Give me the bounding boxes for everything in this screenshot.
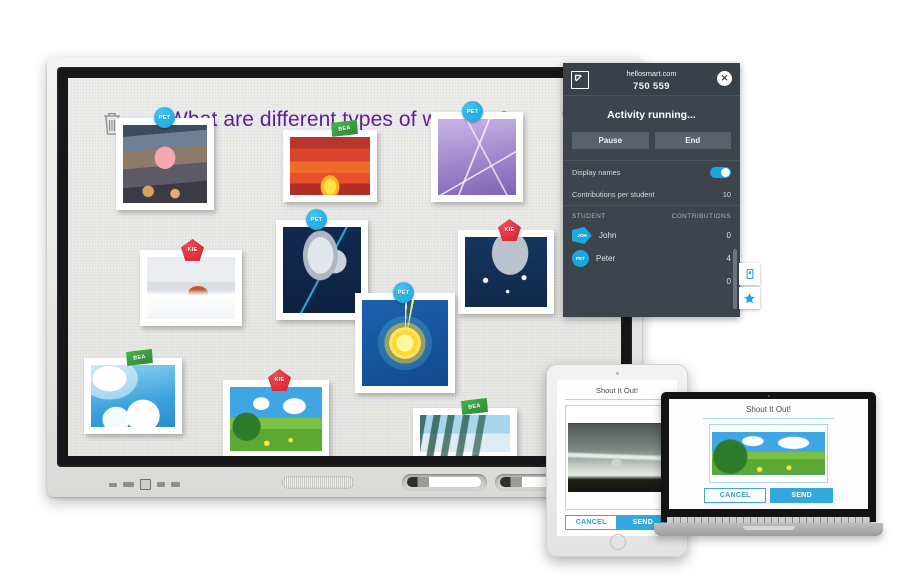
student-table-header: STUDENT CONTRIBUTIONS [563, 206, 740, 224]
column-contributions: CONTRIBUTIONS [672, 213, 731, 220]
laptop-camera [768, 395, 770, 397]
laptop-screen: Shout It Out! CANCEL SEND [669, 399, 868, 509]
avatar: JOH [572, 227, 592, 244]
photo-blue-sky-clouds [91, 365, 175, 427]
student-name: John [599, 231, 727, 240]
photo-card[interactable]: KIE [223, 380, 329, 456]
port-usb [109, 483, 117, 487]
device-icon[interactable] [739, 263, 760, 285]
display-names-toggle[interactable] [710, 167, 731, 178]
divider [565, 399, 668, 400]
photo-tag: PET [393, 282, 414, 303]
divider [703, 418, 834, 419]
photo-snowy-cabin [147, 257, 235, 319]
photo-umbrella-rain [123, 125, 207, 203]
stylus-pen[interactable] [407, 477, 481, 487]
student-name: Peter [596, 254, 727, 263]
cancel-button[interactable]: CANCEL [565, 515, 617, 530]
port-aux-2 [171, 482, 180, 487]
photo-meadow-flowers [230, 387, 322, 451]
dialog-title: Shout It Out! [596, 386, 638, 395]
port-power [140, 479, 151, 490]
photo-tag: PET [306, 209, 327, 230]
panel-scrollbar[interactable] [733, 249, 737, 309]
tablet-camera [616, 372, 619, 375]
photo-card[interactable]: BEA [84, 358, 182, 434]
screenshot-stage: What are different types of weather? [0, 0, 900, 581]
photo-card[interactable]: PET [431, 112, 523, 202]
tablet-screen: Shout It Out! CANCEL SEND [557, 380, 677, 536]
photo-sunset [290, 137, 370, 195]
laptop-device: Shout It Out! CANCEL SEND [661, 392, 876, 542]
student-row[interactable]: PET Peter 4 [563, 247, 740, 270]
student-contributions: 0 [727, 231, 731, 240]
dialog-actions: CANCEL SEND [703, 488, 834, 503]
activity-status: Activity running... [563, 96, 740, 132]
image-preview[interactable] [709, 424, 828, 483]
activity-panel-header: hellosmart.com 750 559 ✕ [563, 63, 740, 96]
activity-pin: 750 559 [563, 79, 740, 93]
port-aux-1 [157, 482, 165, 487]
laptop-notch [743, 526, 795, 530]
student-row[interactable]: 0 [563, 270, 740, 293]
dialog-title: Shout It Out! [746, 405, 791, 414]
student-contributions: 4 [727, 254, 731, 263]
star-icon[interactable] [739, 287, 760, 309]
photo-card[interactable]: BEA [413, 408, 517, 456]
photo-card[interactable]: PET [116, 118, 214, 210]
contributions-row: Contributions per student 10 [563, 184, 740, 205]
shout-it-out-dialog: Shout It Out! CANCEL SEND [669, 399, 868, 509]
photo-tag: PET [462, 101, 483, 122]
pen-tray-left[interactable] [402, 474, 487, 491]
shout-it-out-dialog: Shout It Out! CANCEL SEND [557, 380, 677, 536]
photo-card[interactable]: KIE [458, 230, 554, 314]
photo-meadow-flowers [712, 432, 825, 474]
port-hdmi [123, 482, 134, 487]
avatar: PET [572, 250, 589, 267]
display-names-label: Display names [572, 168, 620, 177]
photo-card[interactable]: BEA [283, 130, 377, 202]
student-contributions: 0 [727, 277, 731, 286]
photo-tag: PET [154, 107, 175, 128]
column-student: STUDENT [572, 213, 606, 220]
cancel-button[interactable]: CANCEL [704, 488, 766, 503]
pause-button[interactable]: Pause [572, 132, 649, 149]
close-icon[interactable]: ✕ [717, 71, 732, 86]
photo-card[interactable]: PET [355, 293, 455, 393]
laptop-lid: Shout It Out! CANCEL SEND [661, 392, 876, 522]
display-screen: What are different types of weather? [68, 78, 621, 456]
contributions-label: Contributions per student [572, 190, 655, 199]
display-names-row[interactable]: Display names [563, 161, 740, 184]
photo-lightning-purple [438, 119, 516, 195]
side-tool-buttons [739, 263, 760, 311]
activity-site: hellosmart.com [626, 69, 676, 78]
tablet-home-button[interactable] [610, 534, 626, 550]
end-button[interactable]: End [655, 132, 732, 149]
photo-snow-sleet [465, 237, 547, 307]
speaker-grille [282, 476, 354, 489]
send-button[interactable]: SEND [770, 488, 832, 503]
photo-storm-cloud [283, 227, 361, 313]
port-cluster [109, 479, 180, 490]
photo-snowy-forest [420, 415, 510, 456]
activity-code: hellosmart.com 750 559 [563, 68, 740, 93]
photo-tornado [568, 423, 665, 492]
image-preview[interactable] [565, 405, 668, 510]
activity-panel: hellosmart.com 750 559 ✕ Activity runnin… [563, 63, 740, 317]
contributions-value: 10 [723, 190, 731, 199]
student-row[interactable]: JOH John 0 [563, 224, 740, 247]
photo-sun-rays [362, 300, 448, 386]
activity-controls: Pause End [563, 132, 740, 160]
photo-card[interactable]: KIE [140, 250, 242, 326]
